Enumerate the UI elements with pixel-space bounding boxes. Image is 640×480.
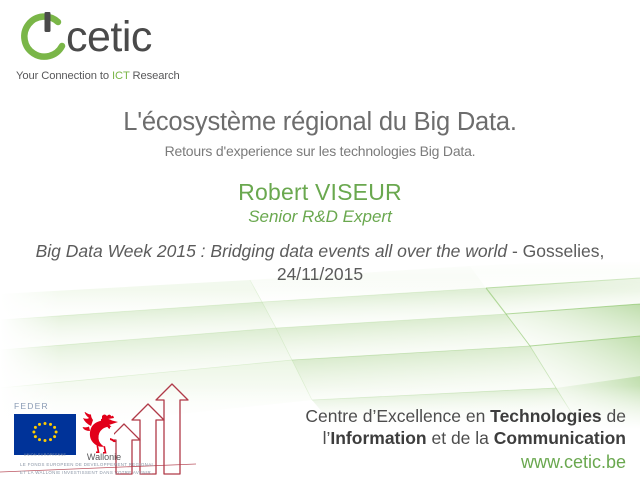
desc-bold-technologies: Technologies — [490, 406, 602, 426]
event-title: Big Data Week 2015 : Bridging data event… — [36, 241, 507, 261]
cetic-website-url[interactable]: www.cetic.be — [326, 452, 626, 473]
desc-text-1: Centre d’Excellence en — [305, 406, 490, 426]
feder-caption-line-1: LE FONDS EUROPEEN DE DEVELOPPEMENT REGIO… — [20, 461, 200, 469]
slide-subtitle: Retours d'experience sur les technologie… — [0, 143, 640, 159]
feder-caption: LE FONDS EUROPEEN DE DEVELOPPEMENT REGIO… — [20, 461, 200, 477]
wallonie-rooster-icon — [82, 412, 126, 456]
desc-bold-information: Information — [330, 428, 426, 448]
tagline-highlight: ICT — [112, 70, 130, 82]
feder-funding-block: FEDER U — [0, 396, 210, 480]
feder-label: FEDER — [14, 401, 49, 411]
desc-text-4: et de la — [427, 428, 494, 448]
cetic-wordmark: cetic — [66, 16, 152, 59]
desc-text-2: de — [602, 406, 626, 426]
tagline-suffix: Research — [130, 70, 180, 82]
feder-caption-line-2: ET LA WALLONIE INVESTISSENT DANS VOTRE A… — [20, 469, 200, 477]
event-info: Big Data Week 2015 : Bridging data event… — [0, 240, 640, 286]
author-name: Robert VISEUR — [0, 179, 640, 206]
presentation-slide: cetic Your Connection to ICT Research L'… — [0, 0, 640, 480]
cetic-description: Centre d’Excellence en Technologies del’… — [276, 405, 626, 450]
european-union-flag-icon — [14, 414, 76, 455]
slide-title: L'écosystème régional du Big Data. — [0, 108, 640, 137]
author-role: Senior R&D Expert — [0, 207, 640, 227]
european-union-caption: UNION EUROPEENNE — [14, 453, 76, 457]
tagline-prefix: Your Connection to — [16, 70, 112, 82]
desc-bold-communication: Communication — [494, 428, 626, 448]
cetic-logo: cetic Your Connection to ICT Research — [14, 8, 204, 86]
cetic-tagline: Your Connection to ICT Research — [16, 70, 180, 82]
